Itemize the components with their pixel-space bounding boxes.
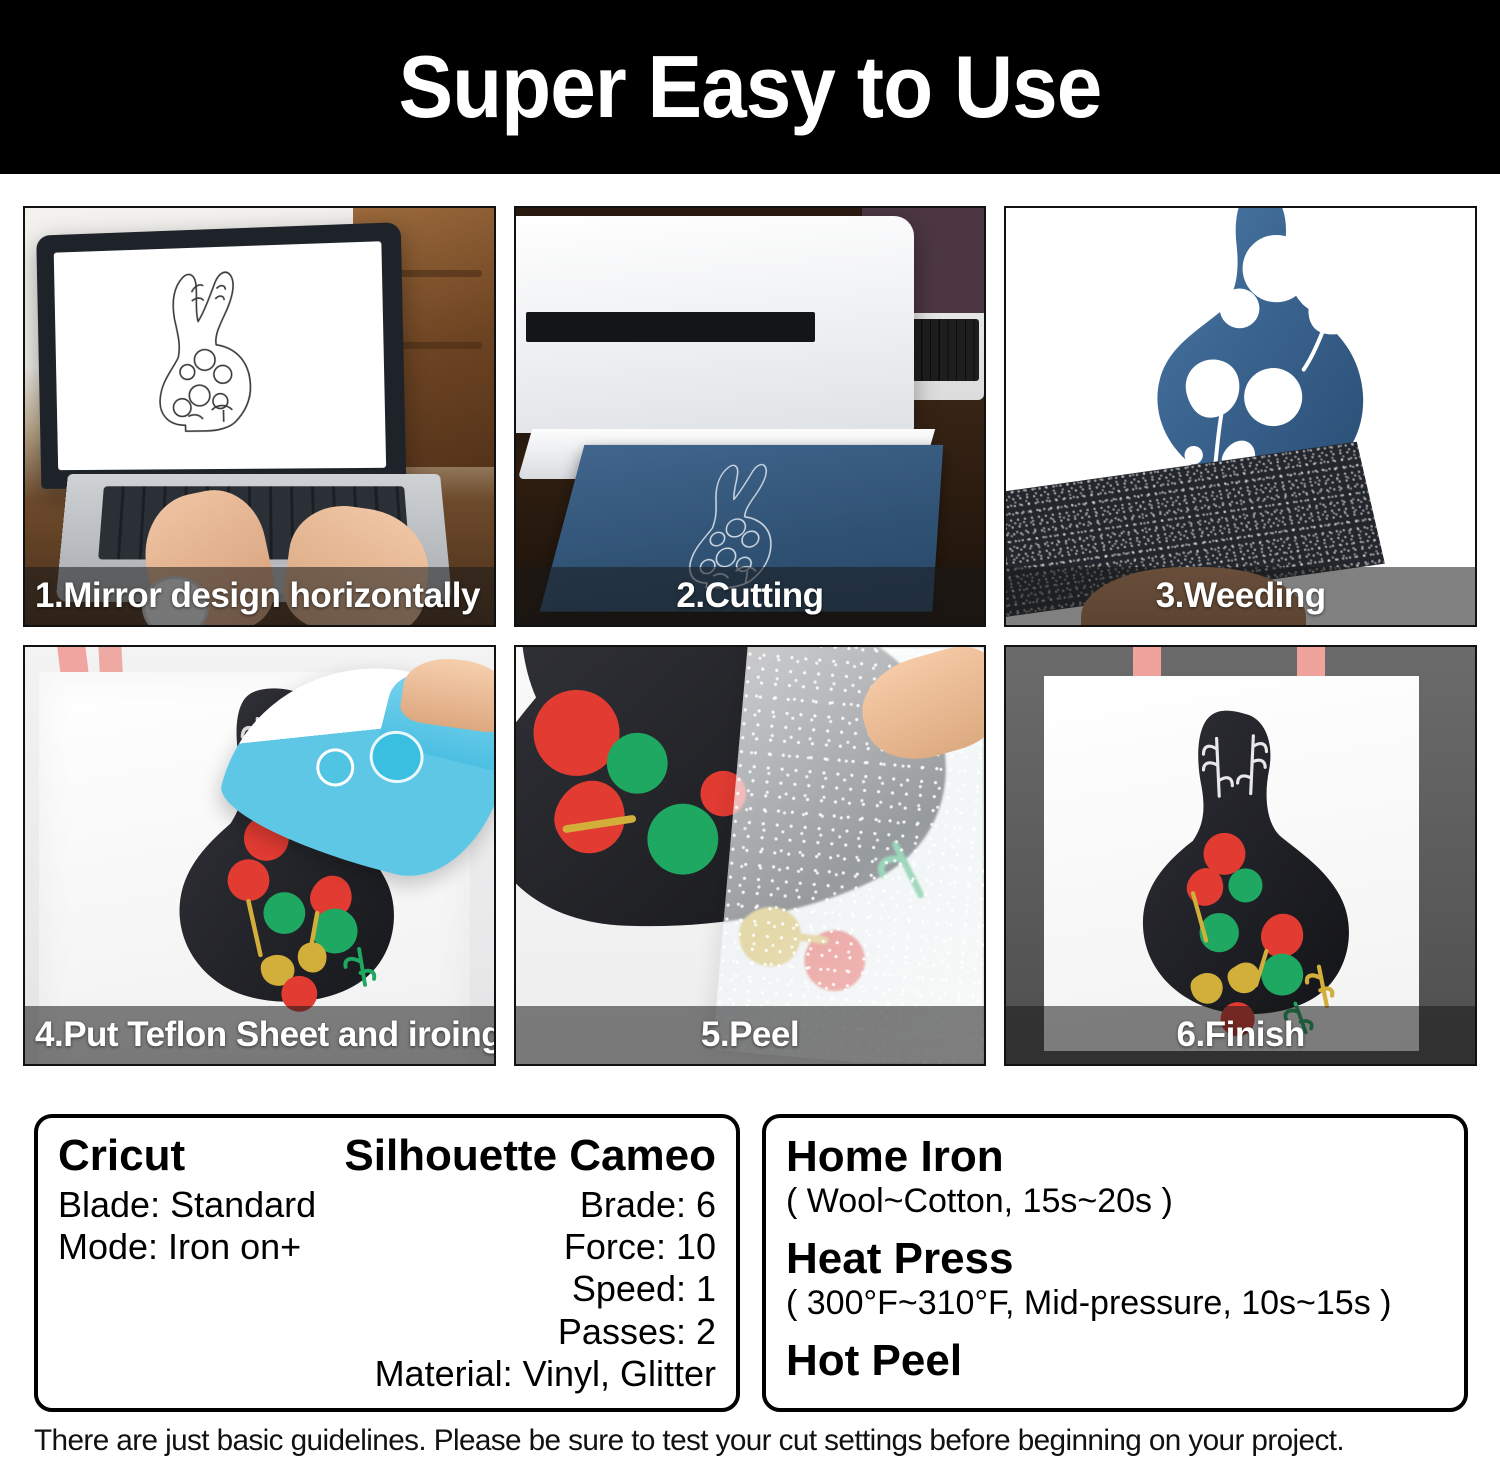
step-caption-band-5: 5.Peel [516, 1006, 985, 1064]
scene-laptop-mirror-design [25, 208, 494, 625]
header-band: Super Easy to Use [0, 0, 1500, 174]
step-caption-band-6: 6.Finish [1006, 1006, 1475, 1064]
laptop-screen [54, 241, 386, 470]
heat-settings-box: Home Iron ( Wool~Cotton, 15s~20s ) Heat … [762, 1114, 1468, 1412]
step-caption-band-3: 3.Weeding [1006, 567, 1475, 625]
step-panel-5: 5.Peel [514, 645, 987, 1066]
scene-finished-tote-bag [1006, 647, 1475, 1064]
step-panel-1: 1.Mirror design horizontally [23, 206, 496, 627]
heat-press-title: Heat Press [786, 1234, 1444, 1283]
cricut-column: Cricut Blade: Standard Mode: Iron on+ [58, 1132, 344, 1398]
scene-cutting-machine-vinyl [516, 208, 985, 625]
bunny-line-art-icon [54, 241, 386, 470]
cricut-title: Cricut [58, 1132, 344, 1180]
step-caption-band-1: 1.Mirror design horizontally [25, 567, 494, 625]
scene-peel-carrier-sheet [516, 647, 985, 1064]
step-panel-6: 6.Finish [1004, 645, 1477, 1066]
step-caption-2: 2.Cutting [676, 576, 823, 616]
footer-disclaimer: There are just basic guidelines. Please … [34, 1424, 1460, 1458]
infographic-page: Super Easy to Use [0, 0, 1500, 1476]
cricut-blade: Blade: Standard [58, 1184, 344, 1226]
cameo-column: Silhouette Cameo Brade: 6 Force: 10 Spee… [344, 1132, 716, 1398]
hot-peel-title: Hot Peel [786, 1336, 1444, 1385]
step-caption-1: 1.Mirror design horizontally [35, 576, 480, 616]
finished-glitter-bunny [1109, 705, 1371, 1055]
step-caption-6: 6.Finish [1177, 1015, 1305, 1055]
step-caption-3: 3.Weeding [1156, 576, 1326, 616]
cameo-material: Material: Vinyl, Glitter [344, 1353, 716, 1395]
home-iron-detail: ( Wool~Cotton, 15s~20s ) [786, 1181, 1444, 1222]
cameo-passes: Passes: 2 [344, 1311, 716, 1353]
machine-settings-box: Cricut Blade: Standard Mode: Iron on+ Si… [34, 1114, 740, 1412]
step-panel-2: 2.Cutting [514, 206, 987, 627]
settings-row: Cricut Blade: Standard Mode: Iron on+ Si… [34, 1114, 1468, 1412]
step-caption-band-2: 2.Cutting [516, 567, 985, 625]
cameo-speed: Speed: 1 [344, 1268, 716, 1310]
cutting-machine [516, 216, 914, 433]
home-iron-title: Home Iron [786, 1132, 1444, 1181]
steps-grid: 1.Mirror design horizontally [23, 206, 1477, 1066]
step-caption-4: 4.Put Teflon Sheet and iroing [35, 1015, 496, 1055]
cameo-title: Silhouette Cameo [344, 1132, 716, 1180]
cricut-mode: Mode: Iron on+ [58, 1226, 344, 1268]
step-caption-5: 5.Peel [701, 1015, 799, 1055]
step-caption-band-4: 4.Put Teflon Sheet and iroing [25, 1006, 494, 1064]
cameo-blade: Brade: 6 [344, 1184, 716, 1226]
scene-iron-on-tote-bag [25, 647, 494, 1064]
step-panel-4: 4.Put Teflon Sheet and iroing [23, 645, 496, 1066]
step-panel-3: 3.Weeding [1004, 206, 1477, 627]
scene-weeding-blue-vinyl-bunny [1006, 208, 1475, 625]
page-title: Super Easy to Use [399, 43, 1102, 131]
heat-press-detail: ( 300°F~310°F, Mid-pressure, 10s~15s ) [786, 1283, 1444, 1324]
cameo-force: Force: 10 [344, 1226, 716, 1268]
